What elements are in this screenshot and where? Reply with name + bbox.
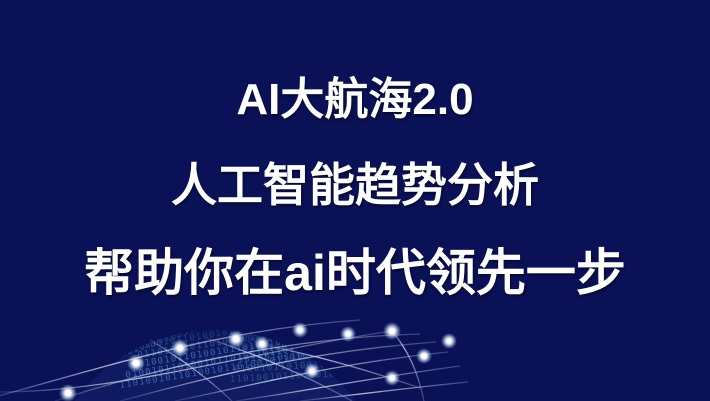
poster-canvas: 01001101001011010010110100101101001011 0… <box>0 0 710 401</box>
background-fill <box>0 0 710 401</box>
binary-globe-artwork: 01001101001011010010110100101101001011 0… <box>0 0 710 401</box>
